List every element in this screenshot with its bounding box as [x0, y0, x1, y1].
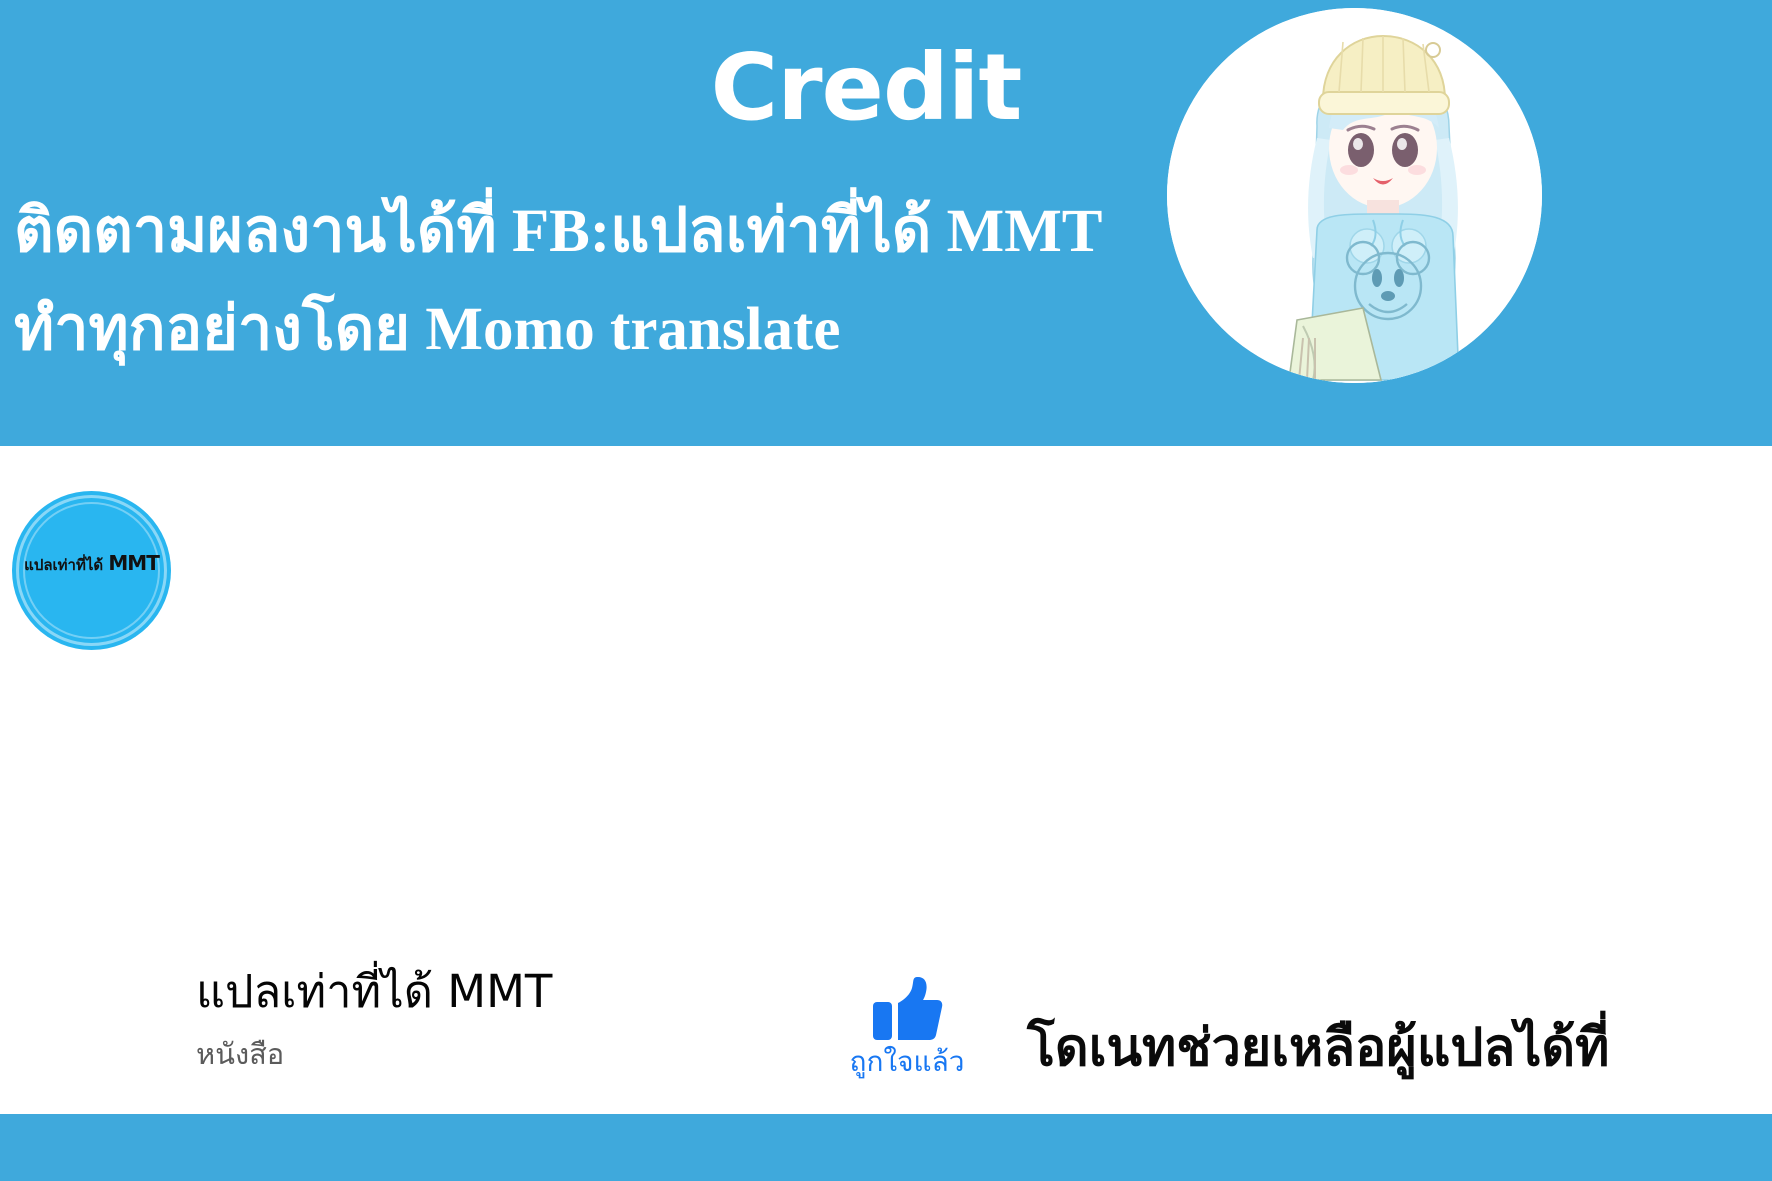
page-avatar-label: แปลเท่าที่ได้ MMT: [12, 553, 171, 573]
banner-follow-line: ติดตามผลงานได้ที่ FB:แปลเท่าที่ได้ MMT: [14, 200, 1103, 264]
donate-heading: โดเนทช่วยเหลือผู้แปลได้ที่: [1027, 1023, 1609, 1075]
bottom-bar: [0, 1114, 1772, 1181]
credit-page: Credit ติดตามผลงานได้ที่ FB:แปลเท่าที่ได…: [0, 0, 1772, 1181]
page-category: หนังสือ: [196, 1040, 284, 1069]
avatar: [1167, 8, 1542, 383]
banner-credit-line: ทำทุกอย่างโดย Momo translate: [14, 298, 840, 362]
thumbs-up-icon: [871, 976, 943, 1042]
page-avatar-label-mmt: MMT: [108, 551, 158, 575]
facebook-page-card: แปลเท่าที่ได้ MMT แปลเท่าที่ได้ MMT หนัง…: [0, 446, 1772, 1091]
credit-banner: Credit ติดตามผลงานได้ที่ FB:แปลเท่าที่ได…: [0, 0, 1772, 446]
like-label: ถูกใจแล้ว: [832, 1048, 982, 1076]
like-status[interactable]: ถูกใจแล้ว: [832, 976, 982, 1076]
page-avatar[interactable]: แปลเท่าที่ได้ MMT: [12, 491, 171, 650]
page-avatar-label-thai: แปลเท่าที่ได้: [24, 556, 103, 574]
page-name[interactable]: แปลเท่าที่ได้ MMT: [196, 969, 552, 1014]
anime-girl-illustration: [1167, 8, 1542, 383]
